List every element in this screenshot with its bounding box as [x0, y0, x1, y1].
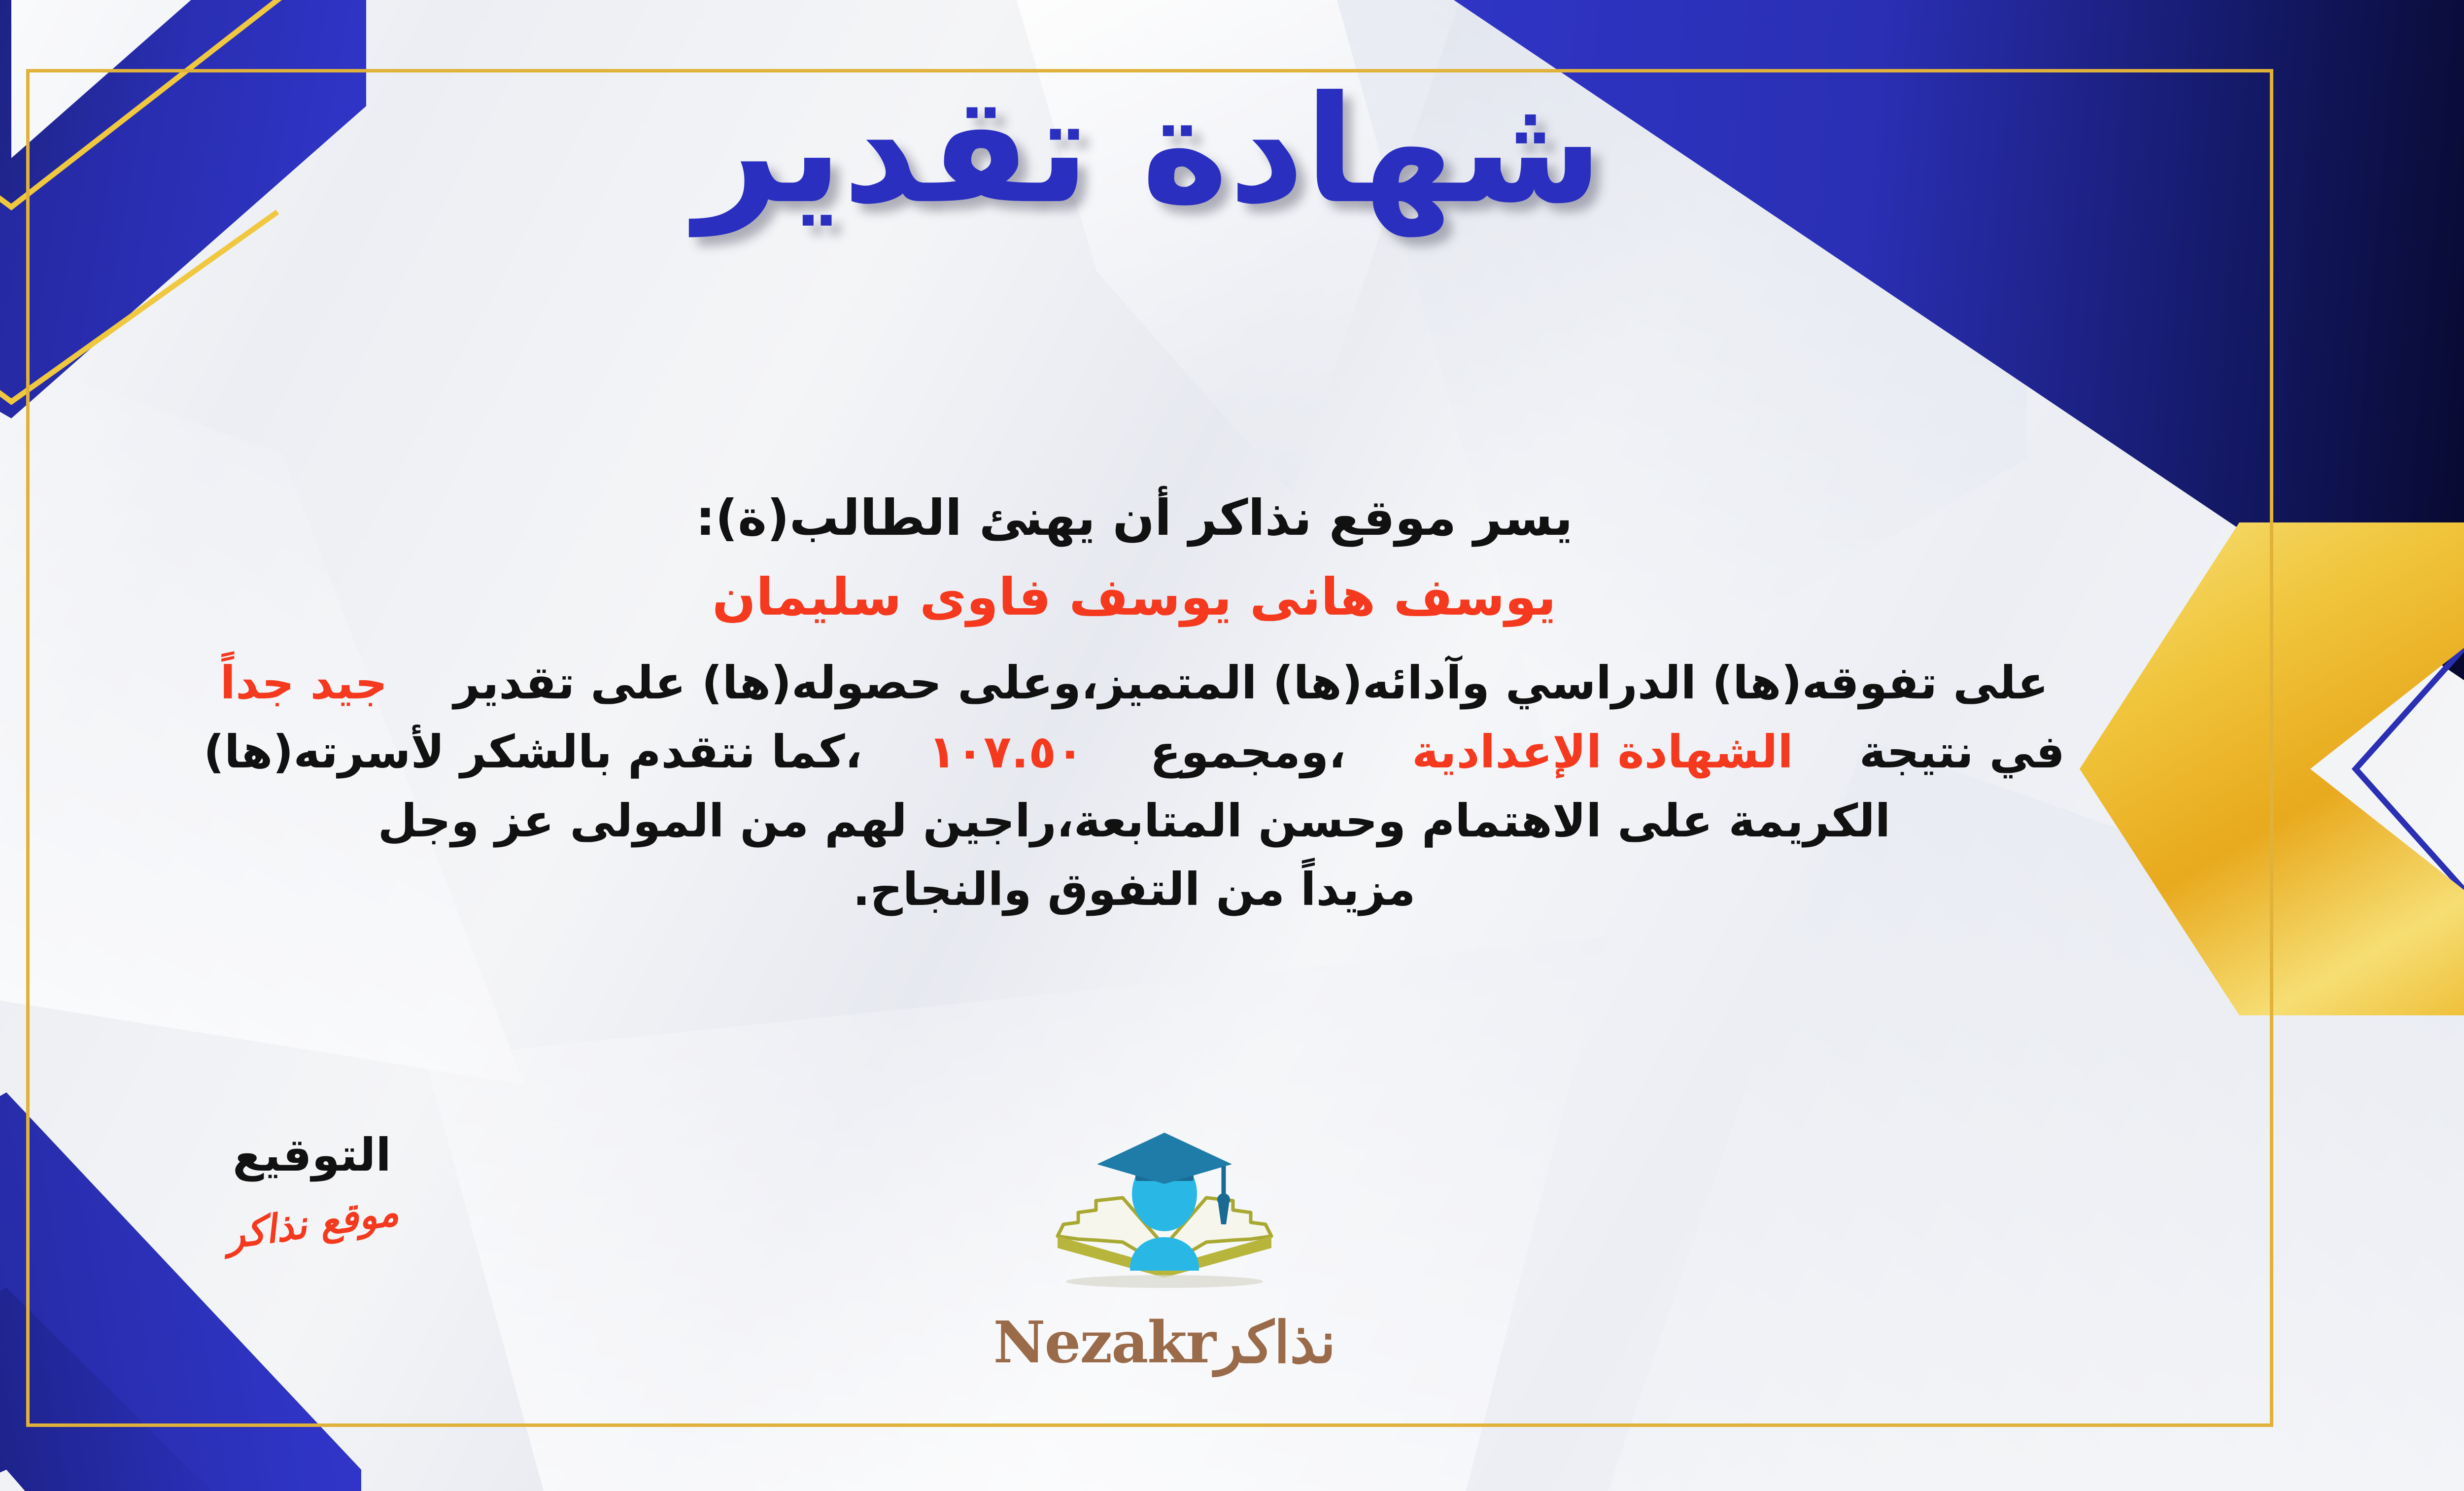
family-thanks-line: الكريمة على الاهتمام وحسن المتابعة،راجين…	[0, 787, 2287, 856]
intro-line: يسر موقع نذاكر أن يهنئ الطالب(ة):	[0, 483, 2287, 553]
student-name: يوسف هانى يوسف فاوى سليمان	[0, 567, 2287, 627]
brand-wordmark: Nezakrنذاكر	[977, 1309, 1352, 1376]
exam-result-line: في نتيجة الشهادة الإعدادية ،ومجموع ١٠٧.٥…	[0, 718, 2287, 787]
certificate-content: شهادة تقدير يسر موقع نذاكر أن يهنئ الطال…	[0, 0, 2464, 1491]
certificate-title: شهادة تقدير	[0, 69, 2464, 232]
total-label: ،ومجموع	[1150, 726, 1346, 778]
signature-label: التوقيع	[139, 1129, 484, 1181]
brand-logo: Nezakrنذاكر	[977, 1119, 1352, 1376]
certificate-body: يسر موقع نذاكر أن يهنئ الطالب(ة): يوسف ه…	[0, 483, 2287, 924]
signature-mark: موقع نذاكر	[223, 1189, 401, 1258]
thanks-text: ،كما نتقدم بالشكر لأسرته(ها)	[204, 726, 862, 778]
achievement-line: على تفوقه(ها) الدراسي وآدائه(ها) المتميز…	[0, 649, 2287, 718]
signature-block: التوقيع موقع نذاكر	[139, 1129, 484, 1246]
certificate-page: شهادة تقدير يسر موقع نذاكر أن يهنئ الطال…	[0, 0, 2464, 1491]
exam-name: الشهادة الإعدادية	[1412, 726, 1793, 778]
wishes-line: مزيداً من التفوق والنجاح.	[0, 855, 2287, 924]
total-score: ١٠٧.٥٠	[928, 726, 1084, 778]
in-result-text: في نتيجة	[1859, 726, 2065, 778]
graduate-book-icon	[1049, 1119, 1280, 1306]
achievement-text: على تفوقه(ها) الدراسي وآدائه(ها) المتميز…	[454, 657, 2049, 709]
grade-value: جيد جداً	[220, 657, 387, 709]
